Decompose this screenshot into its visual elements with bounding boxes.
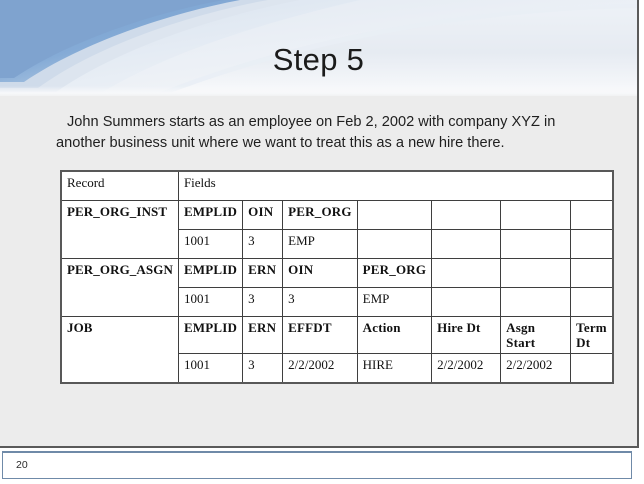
field-name-cell: OIN	[243, 201, 283, 230]
field-name-cell: EFFDT	[283, 317, 358, 354]
field-value-cell: 1001	[178, 354, 242, 384]
field-value-cell	[571, 354, 613, 384]
header-cell-fields: Fields	[178, 171, 612, 201]
field-name-cell: OIN	[283, 259, 358, 288]
field-name-cell	[571, 201, 613, 230]
field-name-cell	[571, 259, 613, 288]
record-name-cell: PER_ORG_ASGN	[61, 259, 178, 317]
field-value-cell: EMP	[357, 288, 432, 317]
record-name-cell: PER_ORG_INST	[61, 201, 178, 259]
field-value-cell	[357, 230, 432, 259]
table-row: JOB EMPLID ERN EFFDT Action Hire Dt Asgn…	[61, 317, 613, 354]
field-value-cell: 3	[243, 354, 283, 384]
field-value-cell: EMP	[283, 230, 358, 259]
data-table-wrapper: Record Fields PER_ORG_INST EMPLID OIN PE…	[60, 170, 614, 384]
field-value-cell	[501, 288, 571, 317]
field-value-cell: 3	[243, 288, 283, 317]
field-name-cell: PER_ORG	[283, 201, 358, 230]
record-name-cell: JOB	[61, 317, 178, 384]
field-value-cell: 2/2/2002	[501, 354, 571, 384]
field-value-cell	[501, 230, 571, 259]
table-header-row: Record Fields	[61, 171, 613, 201]
field-name-cell: EMPLID	[178, 317, 242, 354]
field-value-cell	[432, 230, 501, 259]
field-value-cell: 3	[283, 288, 358, 317]
slide: Step 5 John Summers starts as an employe…	[0, 0, 639, 448]
table-row: PER_ORG_INST EMPLID OIN PER_ORG	[61, 201, 613, 230]
header-cell-record: Record	[61, 171, 178, 201]
notes-bar[interactable]: 20	[2, 451, 632, 479]
slide-title: Step 5	[0, 42, 637, 78]
header-body-divider	[0, 86, 637, 96]
slide-body-text: John Summers starts as an employee on Fe…	[56, 112, 604, 154]
field-value-cell: 1001	[178, 230, 242, 259]
field-value-cell	[571, 288, 613, 317]
field-name-cell	[501, 259, 571, 288]
field-name-cell: EMPLID	[178, 201, 242, 230]
field-name-cell	[432, 201, 501, 230]
field-name-cell: ERN	[243, 317, 283, 354]
field-name-cell: EMPLID	[178, 259, 242, 288]
field-name-cell	[357, 201, 432, 230]
field-value-cell	[571, 230, 613, 259]
field-name-cell: ERN	[243, 259, 283, 288]
field-name-cell	[432, 259, 501, 288]
record-field-table: Record Fields PER_ORG_INST EMPLID OIN PE…	[60, 170, 614, 384]
field-value-cell: 2/2/2002	[283, 354, 358, 384]
field-value-cell: 1001	[178, 288, 242, 317]
field-value-cell: 3	[243, 230, 283, 259]
field-name-cell	[501, 201, 571, 230]
field-name-cell: Hire Dt	[432, 317, 501, 354]
page-number: 20	[16, 459, 28, 471]
field-name-cell: Asgn Start	[501, 317, 571, 354]
table-row: PER_ORG_ASGN EMPLID ERN OIN PER_ORG	[61, 259, 613, 288]
field-value-cell: HIRE	[357, 354, 432, 384]
field-name-cell: Action	[357, 317, 432, 354]
field-value-cell: 2/2/2002	[432, 354, 501, 384]
field-name-cell: PER_ORG	[357, 259, 432, 288]
field-value-cell	[432, 288, 501, 317]
field-name-cell: Term Dt	[571, 317, 613, 354]
